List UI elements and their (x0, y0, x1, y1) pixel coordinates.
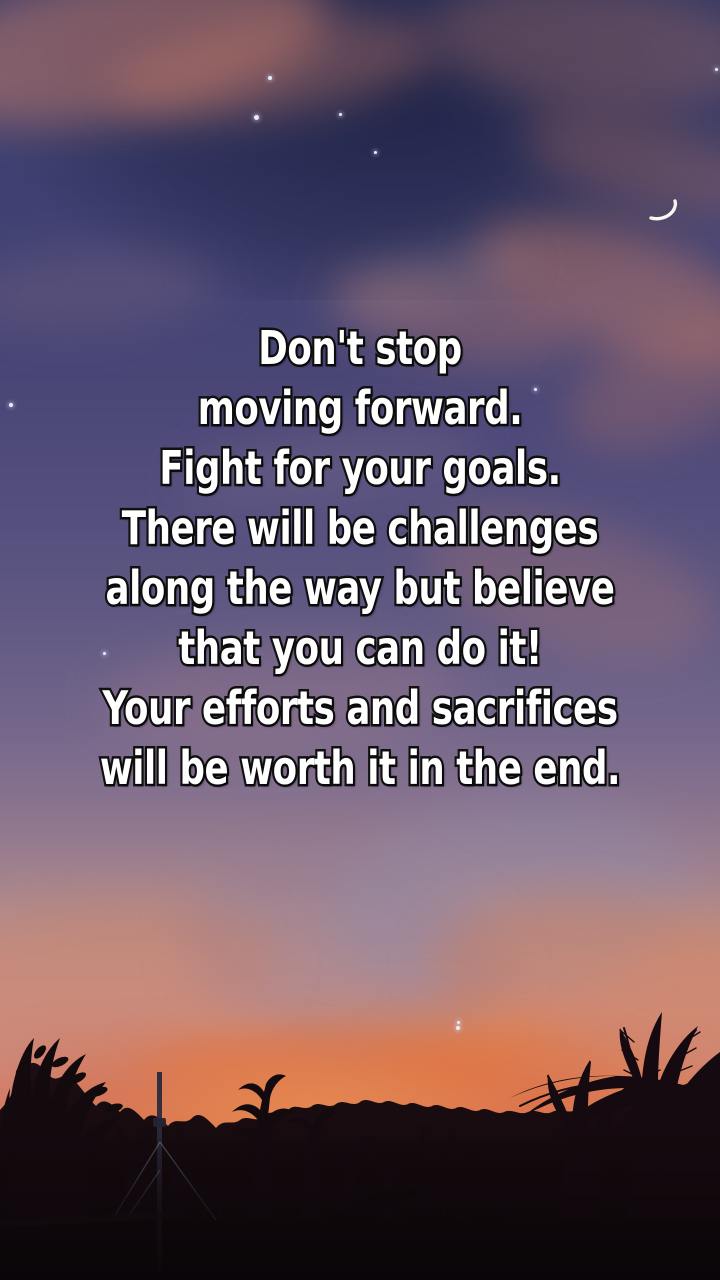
quote-line: Your efforts and sacrifices (50, 678, 669, 738)
quote-text-block: Don't stopmoving forward.Fight for your … (50, 318, 669, 798)
quote-line: moving forward. (50, 378, 669, 438)
ground-shadow (0, 1130, 720, 1280)
sky-top-shadow (0, 0, 720, 300)
crescent-moon-icon (648, 198, 682, 228)
quote-line: along the way but believe (50, 558, 669, 618)
star (715, 68, 718, 71)
quote-line: Don't stop (50, 318, 669, 378)
star (374, 151, 377, 154)
star (254, 115, 259, 120)
star (268, 76, 272, 80)
quote-line: will be worth it in the end. (50, 738, 669, 798)
star (339, 113, 342, 116)
wallpaper-canvas: Don't stopmoving forward.Fight for your … (0, 0, 720, 1280)
foreground-silhouette (0, 920, 720, 1280)
quote-line: that you can do it! (50, 618, 669, 678)
star (9, 403, 13, 407)
quote-line: There will be challenges (50, 498, 669, 558)
quote-line: Fight for your goals. (50, 438, 669, 498)
